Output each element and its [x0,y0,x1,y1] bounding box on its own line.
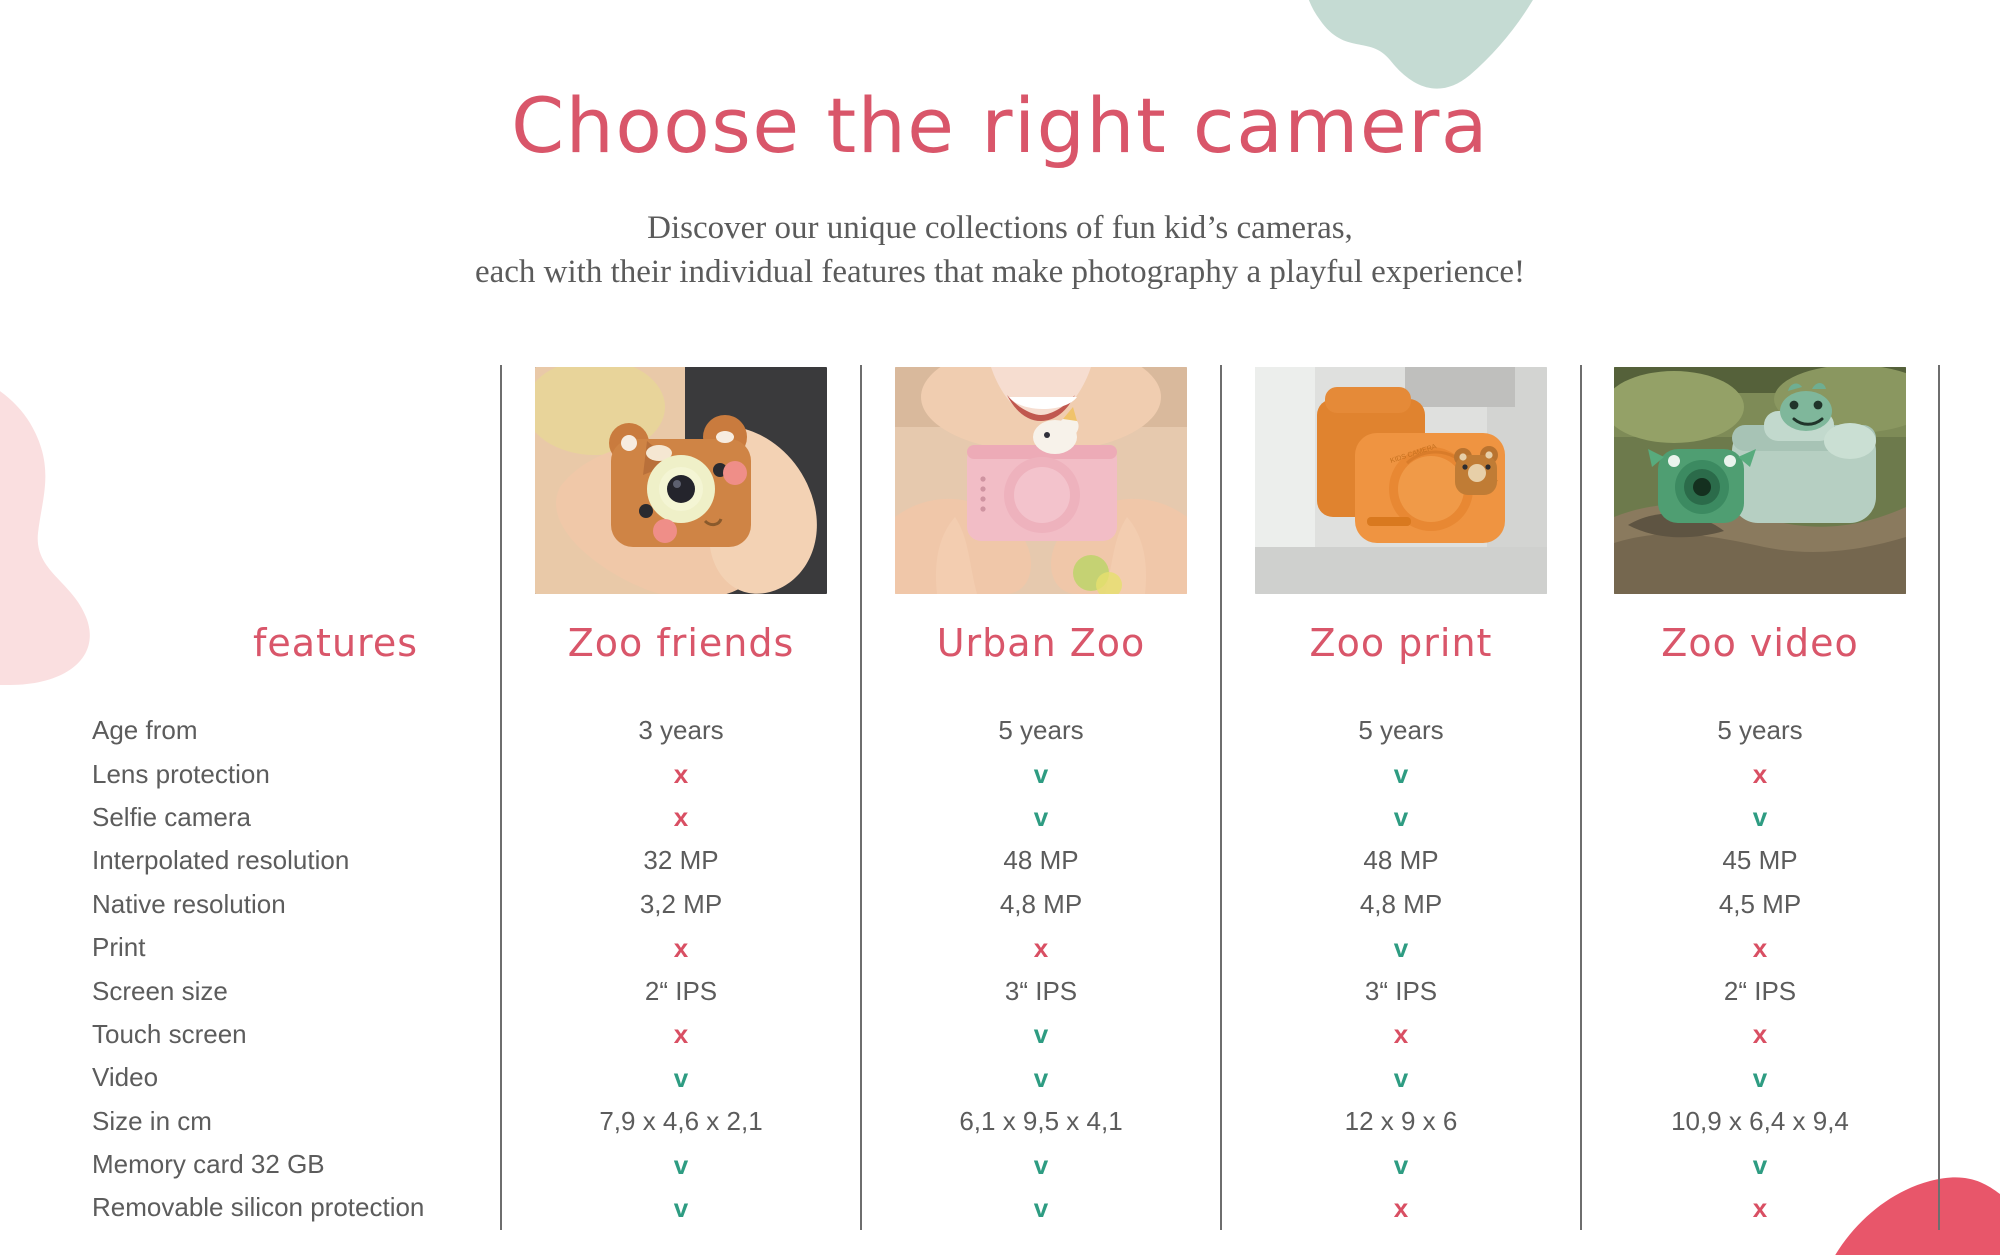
features-photo-spacer [0,365,500,597]
product-name-cell: Zoo friends [502,597,860,689]
cross-icon: x [674,935,688,961]
subtitle-line-1: Discover our unique collections of fun k… [0,206,2000,250]
page-header: Choose the right camera Discover our uni… [0,0,2000,294]
value-list: 5 years v v 48 MP 4,8 MP v 3“ IPS x v 12… [1222,689,1580,1230]
zoo-print-camera-photo: KIDS CAMERA ZOO PRINT [1255,367,1547,594]
cell-value: 6,1 x 9,5 x 4,1 [862,1100,1220,1143]
cell-value: v [1222,1056,1580,1099]
cell-value: 48 MP [862,839,1220,882]
product-photo-cell [1582,365,1938,597]
cell-value: x [1582,1186,1938,1229]
feature-label: Screen size [0,969,500,1012]
cell-value: v [862,796,1220,839]
features-header-label: features [253,621,418,665]
cross-icon: x [674,761,688,787]
zoo-video-camera-photo [1614,367,1906,594]
cell-value: v [1222,796,1580,839]
check-icon: v [1394,804,1408,830]
check-icon: v [1034,1195,1048,1221]
product-photo-cell: KIDS CAMERA ZOO PRINT [1222,365,1580,597]
check-icon: v [1034,1021,1048,1047]
features-header-cell: features [0,597,500,689]
cell-value: v [1222,752,1580,795]
check-icon: v [1034,1152,1048,1178]
check-icon: v [674,1065,688,1091]
check-icon: v [1034,1065,1048,1091]
cell-value: 45 MP [1582,839,1938,882]
cross-icon: x [1753,935,1767,961]
cell-value: v [862,1013,1220,1056]
cell-value: v [862,752,1220,795]
cell-value: x [1582,752,1938,795]
cell-value: 5 years [862,709,1220,752]
product-column-zoo-friends[interactable]: Zoo friends 3 years x x 32 MP 3,2 MP x 2… [500,365,860,1230]
cell-value: v [502,1186,860,1229]
check-icon: v [1753,1152,1767,1178]
cell-value: v [862,1186,1220,1229]
cell-value: x [862,926,1220,969]
product-name-cell: Urban Zoo [862,597,1220,689]
value-list: 3 years x x 32 MP 3,2 MP x 2“ IPS x v 7,… [502,689,860,1230]
check-icon: v [1753,804,1767,830]
cell-value: 4,8 MP [862,883,1220,926]
cell-value: v [862,1056,1220,1099]
cross-icon: x [1753,1021,1767,1047]
feature-label: Video [0,1056,500,1099]
product-column-urban-zoo[interactable]: Urban Zoo 5 years v v 48 MP 4,8 MP x 3“ … [860,365,1220,1230]
product-photo-cell [862,365,1220,597]
cell-value: v [502,1056,860,1099]
check-icon: v [1394,1152,1408,1178]
feature-label: Age from [0,709,500,752]
cross-icon: x [1394,1021,1408,1047]
cross-icon: x [1034,935,1048,961]
cell-value: 2“ IPS [502,969,860,1012]
cell-value: x [1582,1013,1938,1056]
check-icon: v [1034,761,1048,787]
cell-value: x [502,752,860,795]
feature-label: Lens protection [0,752,500,795]
cell-value: 4,5 MP [1582,883,1938,926]
camera-comparison-table: features Age from Lens protection Selfie… [0,365,2000,1230]
feature-label: Size in cm [0,1100,500,1143]
cell-value: v [1582,1143,1938,1186]
cross-icon: x [1394,1195,1408,1221]
product-name: Zoo print [1310,621,1493,665]
check-icon: v [1394,1065,1408,1091]
feature-label: Print [0,926,500,969]
cross-icon: x [674,804,688,830]
feature-label: Memory card 32 GB [0,1143,500,1186]
check-icon: v [1034,804,1048,830]
feature-label: Touch screen [0,1013,500,1056]
check-icon: v [1394,761,1408,787]
feature-label: Interpolated resolution [0,839,500,882]
cell-value: x [502,796,860,839]
check-icon: v [674,1195,688,1221]
product-column-zoo-video[interactable]: Zoo video 5 years x v 45 MP 4,5 MP x 2“ … [1580,365,1940,1230]
product-column-zoo-print[interactable]: KIDS CAMERA ZOO PRINT [1220,365,1580,1230]
cell-value: v [1222,926,1580,969]
cross-icon: x [1753,761,1767,787]
cell-value: x [1222,1186,1580,1229]
cell-value: v [1582,1056,1938,1099]
page-subtitle: Discover our unique collections of fun k… [0,206,2000,294]
cell-value: 5 years [1582,709,1938,752]
product-photo-cell [502,365,860,597]
comparison-page: Choose the right camera Discover our uni… [0,0,2000,1255]
value-list: 5 years x v 45 MP 4,5 MP x 2“ IPS x v 10… [1582,689,1938,1230]
feature-label-list: Age from Lens protection Selfie camera I… [0,689,500,1230]
page-title: Choose the right camera [0,86,2000,166]
cell-value: x [1222,1013,1580,1056]
cell-value: 3“ IPS [862,969,1220,1012]
cell-value: x [502,926,860,969]
cell-value: 32 MP [502,839,860,882]
cross-icon: x [1753,1195,1767,1221]
check-icon: v [1394,935,1408,961]
cell-value: 3,2 MP [502,883,860,926]
cell-value: x [502,1013,860,1056]
value-list: 5 years v v 48 MP 4,8 MP x 3“ IPS v v 6,… [862,689,1220,1230]
feature-label: Native resolution [0,883,500,926]
product-name: Zoo friends [568,621,795,665]
cell-value: v [862,1143,1220,1186]
product-name: Urban Zoo [937,621,1146,665]
cell-value: 5 years [1222,709,1580,752]
cell-value: v [502,1143,860,1186]
feature-label: Removable silicon protection [0,1186,500,1229]
product-name-cell: Zoo print [1222,597,1580,689]
check-icon: v [1753,1065,1767,1091]
cell-value: 2“ IPS [1582,969,1938,1012]
cell-value: 10,9 x 6,4 x 9,4 [1582,1100,1938,1143]
cell-value: v [1582,796,1938,839]
feature-label: Selfie camera [0,796,500,839]
urban-zoo-camera-photo [895,367,1187,594]
cell-value: 48 MP [1222,839,1580,882]
cell-value: 4,8 MP [1222,883,1580,926]
subtitle-line-2: each with their individual features that… [0,250,2000,294]
cell-value: 12 x 9 x 6 [1222,1100,1580,1143]
product-name-cell: Zoo video [1582,597,1938,689]
zoo-friends-camera-photo [535,367,827,594]
cell-value: x [1582,926,1938,969]
check-icon: v [674,1152,688,1178]
product-name: Zoo video [1661,621,1858,665]
cell-value: v [1222,1143,1580,1186]
cell-value: 7,9 x 4,6 x 2,1 [502,1100,860,1143]
cross-icon: x [674,1021,688,1047]
cell-value: 3“ IPS [1222,969,1580,1012]
features-column: features Age from Lens protection Selfie… [0,365,500,1230]
cell-value: 3 years [502,709,860,752]
